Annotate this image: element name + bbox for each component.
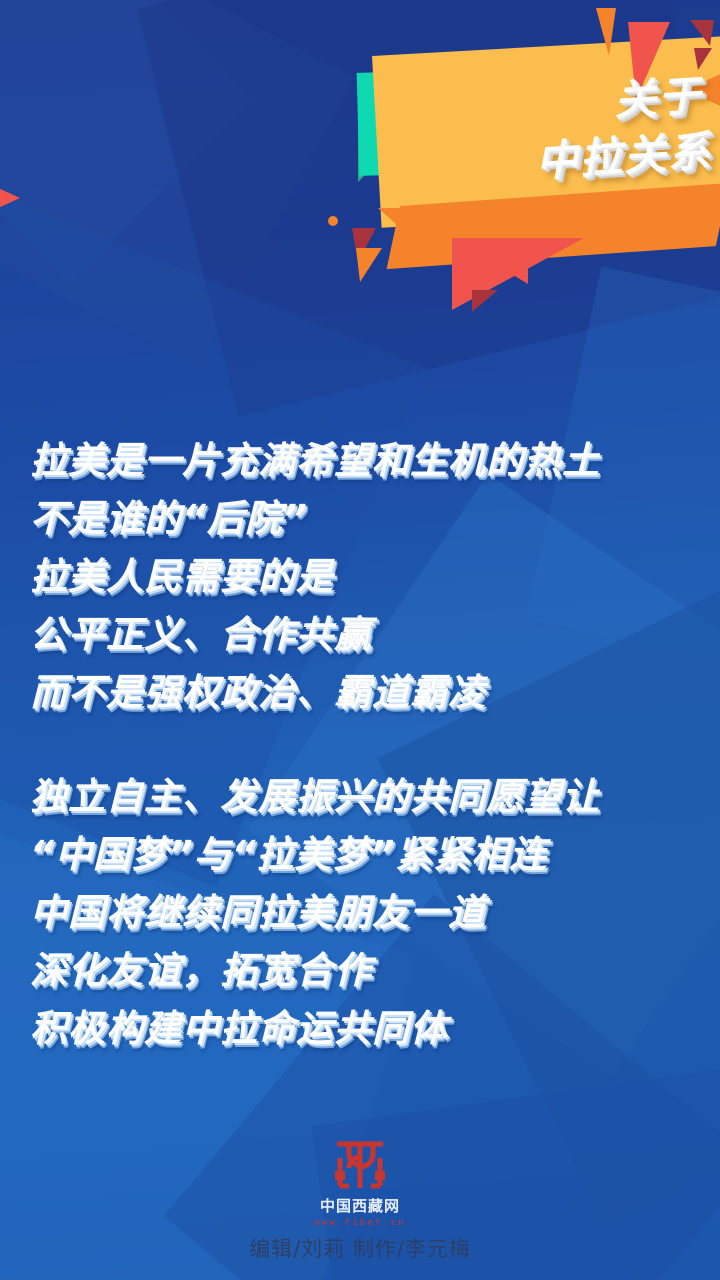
footer-branding: 中国西藏网 www.tibet.cn (0, 1138, 720, 1230)
body-line: “中国梦”与“拉美梦”紧紧相连 (30, 826, 700, 884)
confetti-dot-icon (328, 216, 338, 226)
body-line: 深化友谊，拓宽合作 (30, 942, 700, 1000)
body-copy: 拉美是一片充满希望和生机的热土 不是谁的“后院” 拉美人民需要的是 公平正义、合… (30, 432, 700, 1058)
body-line: 公平正义、合作共赢 (30, 606, 700, 664)
body-line: 积极构建中拉命运共同体 (30, 1000, 700, 1058)
confetti-triangle-icon (596, 8, 616, 56)
confetti-triangle-icon (0, 188, 20, 208)
site-name: 中国西藏网 (0, 1197, 720, 1215)
poster-canvas: 关于 中拉关系 拉美是一片充满希望和生机的热土 不是谁的“后院” 拉美人民需要的… (0, 0, 720, 1280)
header-banner: 关于 中拉关系 (0, 0, 720, 330)
tibet-net-seal-logo-icon (329, 1138, 391, 1192)
body-line: 独立自主、发展振兴的共同愿望让 (30, 768, 700, 826)
credits-line: 编辑/刘莉 制作/李元梅 (0, 1233, 720, 1263)
body-line: 中国将继续同拉美朋友一道 (30, 884, 700, 942)
coral-ribbon-tail-shape (452, 238, 528, 284)
paragraph: 拉美是一片充满希望和生机的热土 不是谁的“后院” 拉美人民需要的是 公平正义、合… (30, 432, 700, 722)
paragraph: 独立自主、发展振兴的共同愿望让 “中国梦”与“拉美梦”紧紧相连 中国将继续同拉美… (30, 768, 700, 1058)
dark-red-nub-shape (472, 290, 498, 312)
poster-title: 关于 中拉关系 (427, 68, 713, 197)
site-url: www.tibet.cn (0, 1216, 720, 1230)
confetti-triangle-icon (694, 48, 712, 70)
body-line: 而不是强权政治、霸道霸凌 (30, 664, 700, 722)
body-line: 不是谁的“后院” (30, 490, 700, 548)
body-line: 拉美是一片充满希望和生机的热土 (30, 432, 700, 490)
confetti-triangle-icon (356, 248, 382, 282)
confetti-triangle-icon (690, 20, 714, 46)
body-line: 拉美人民需要的是 (30, 548, 700, 606)
